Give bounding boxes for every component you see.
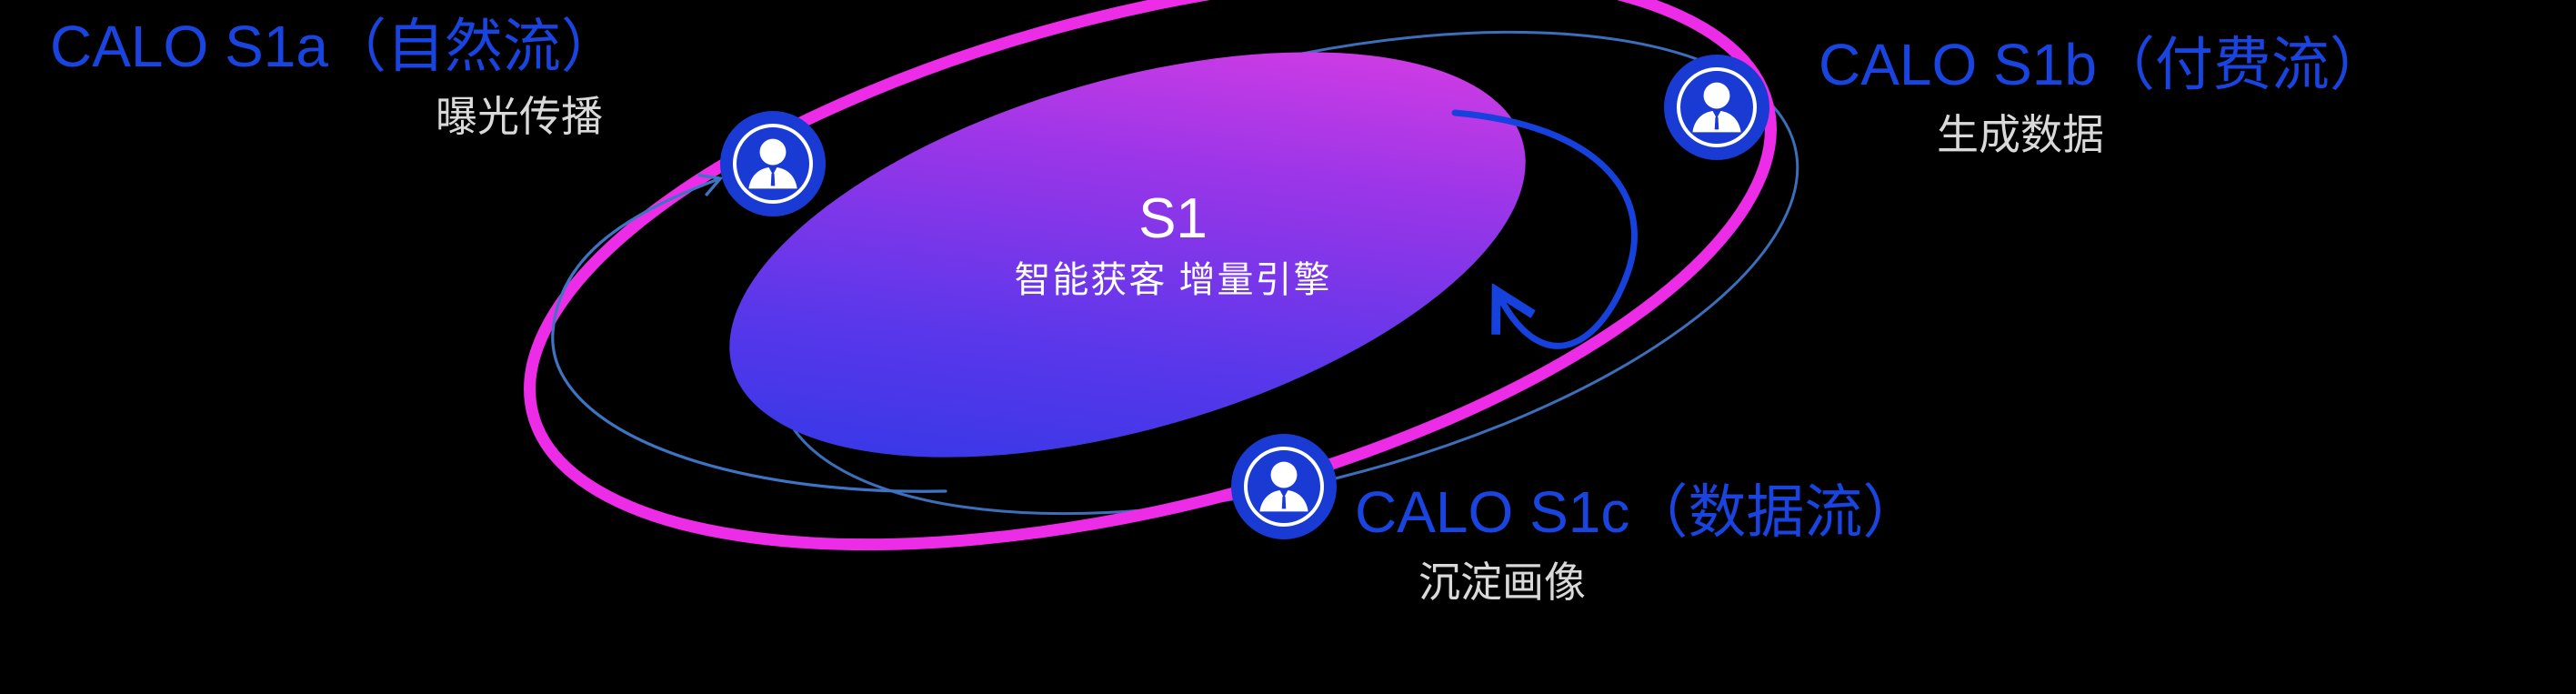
stream-title-s1a: CALO S1a（自然流） bbox=[50, 16, 619, 77]
core-ellipse bbox=[685, 0, 1571, 536]
stream-label-s1c: CALO S1c（数据流） 沉淀画像 bbox=[1355, 482, 1920, 606]
stream-subtitle-s1c: 沉淀画像 bbox=[1418, 558, 1586, 606]
node-s1a[interactable] bbox=[720, 111, 826, 216]
stream-subtitle-s1b: 生成数据 bbox=[1937, 111, 2104, 158]
stream-title-s1b: CALO S1b（付费流） bbox=[1819, 35, 2388, 96]
stream-subtitle-s1a: 曝光传播 bbox=[436, 93, 603, 140]
node-s1c[interactable] bbox=[1231, 434, 1337, 539]
stream-title-s1c: CALO S1c（数据流） bbox=[1355, 482, 1920, 543]
stream-label-s1a: CALO S1a（自然流） 曝光传播 bbox=[50, 16, 619, 140]
diagram-canvas: S1 智能获客 增量引擎 CALO S1a（自然流） 曝光传播 CALO S1b… bbox=[0, 0, 2576, 694]
stream-label-s1b: CALO S1b（付费流） 生成数据 bbox=[1819, 35, 2388, 158]
node-s1b[interactable] bbox=[1664, 55, 1769, 160]
